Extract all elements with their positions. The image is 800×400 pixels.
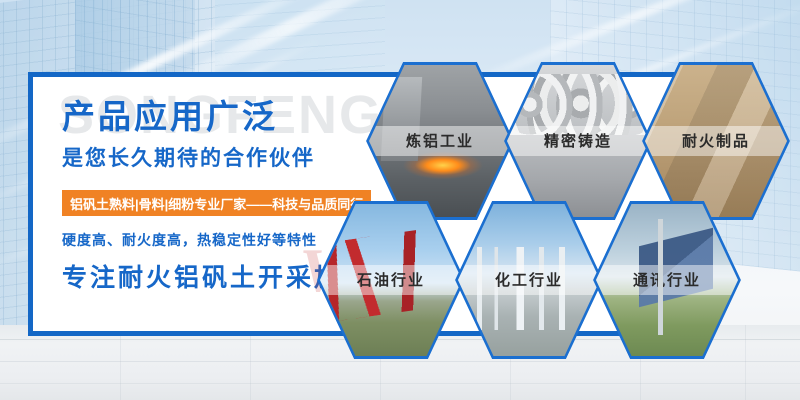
subheadline: 是您长久期待的合作伙伴	[62, 148, 315, 169]
feature-line: 硬度高、耐火度高，热稳定性好等特性	[62, 233, 317, 247]
headline: 产品应用广泛	[62, 100, 278, 133]
hex-label: 通讯行业	[596, 265, 738, 295]
hex-label: 化工行业	[458, 265, 600, 295]
promotional-banner: SONGFENG 产品应用广泛 是您长久期待的合作伙伴 铝矾土熟料|骨料|细粉专…	[0, 0, 800, 400]
hex-label: 石油行业	[320, 265, 462, 295]
orange-ribbon-tagline: 铝矾土熟料|骨料|细粉专业厂家——科技与品质同行	[62, 190, 371, 216]
hex-label: 耐火制品	[645, 126, 787, 156]
hex-label: 精密铸造	[507, 126, 649, 156]
hex-label: 炼铝工业	[369, 126, 511, 156]
